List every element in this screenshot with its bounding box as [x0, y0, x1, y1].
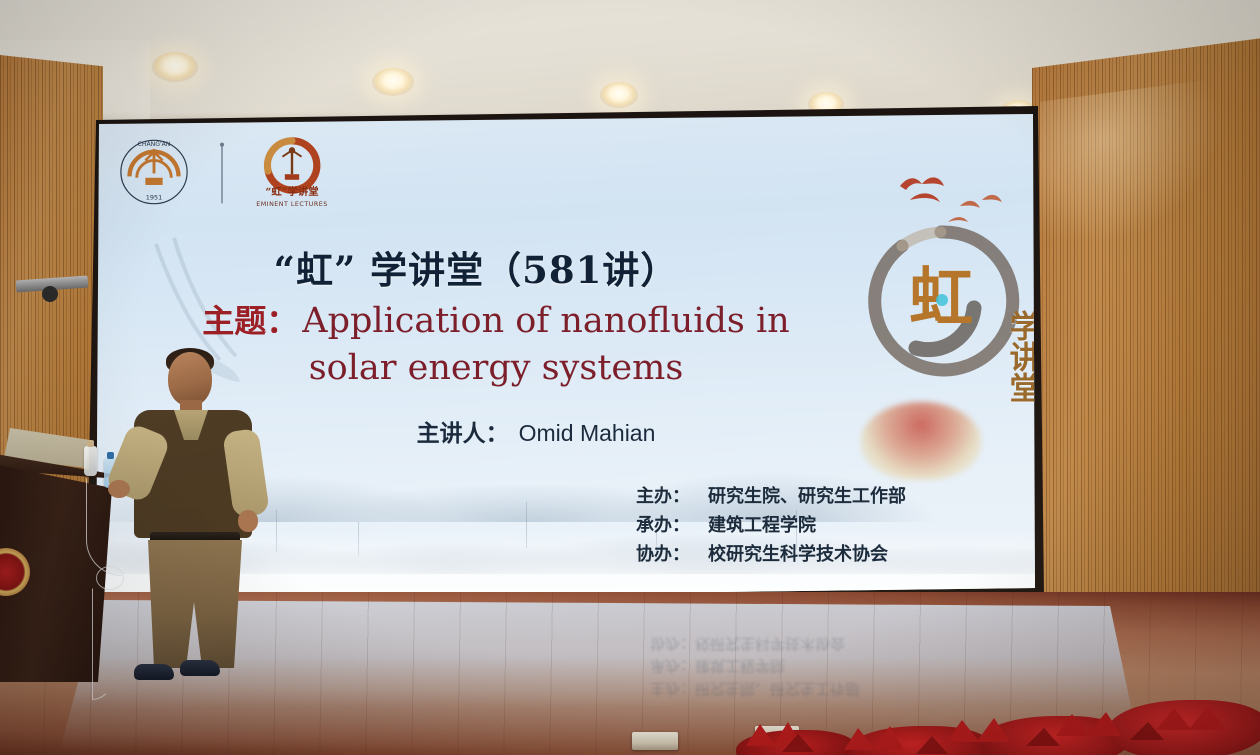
svg-text:EMINENT LECTURES: EMINENT LECTURES [256, 201, 327, 208]
presenter-left-hand [108, 480, 130, 498]
reflected-slide-text: 主办：研究生院、研究生工作部承办：建筑工程学院协办：校研究生科学技术协会 [650, 620, 970, 700]
ceiling-light-3 [600, 82, 638, 108]
presenter-shoe-right [180, 660, 220, 676]
lecture-hall-photo: CHANG'AN 1951 “虹”学讲堂 EMINENT LECTURES [0, 0, 1260, 755]
logo-divider [220, 138, 224, 210]
organizer-row: 主办： 研究生院、研究生工作部 [636, 482, 976, 511]
slide-title: “虹” 学讲堂（581讲） [96, 240, 856, 294]
presenter-shoe-left [134, 664, 174, 680]
poinsettia-leaves [726, 700, 1260, 755]
speaker-label: 主讲人： [417, 414, 509, 448]
eminent-lectures-logo: “虹”学讲堂 EMINENT LECTURES [252, 136, 332, 214]
svg-text:CHANG'AN: CHANG'AN [138, 141, 171, 148]
microphone-mount [42, 286, 58, 302]
organizer-value: 建筑工程学院 [708, 511, 816, 540]
floor-outlet-1 [632, 732, 678, 750]
speaker-name: Omid Mahian [519, 420, 656, 447]
presenter-right-hand [238, 510, 258, 532]
organizer-row: 承办： 建筑工程学院 [636, 511, 976, 540]
vertical-calligraphy: 学讲堂 [1001, 310, 1035, 403]
subject-label: 主题： [202, 296, 298, 342]
organizer-key: 承办： [636, 511, 698, 540]
changan-university-logo: CHANG'AN 1951 [118, 136, 190, 208]
organizer-key: 协办： [636, 540, 698, 569]
organizers-block: 主办： 研究生院、研究生工作部 承办： 建筑工程学院 协办： 校研究生科学技术协… [636, 482, 976, 569]
vertical-calligraphy-char-1: 学讲堂 [1001, 310, 1035, 403]
ceiling-light-1 [152, 52, 198, 82]
svg-text:“虹”学讲堂: “虹”学讲堂 [265, 185, 318, 198]
ceiling-light-2 [372, 68, 414, 96]
organizer-row: 协办： 校研究生科学技术协会 [636, 540, 976, 569]
subject-line-1: Application of nanofluids in [302, 301, 789, 341]
organizer-value: 研究生院、研究生工作部 [708, 482, 906, 511]
cable-trail [92, 588, 112, 700]
presenter-trousers [148, 540, 242, 668]
water-bottle [84, 446, 97, 476]
presenter-head [168, 352, 212, 406]
organizer-key: 主办： [636, 482, 698, 511]
organizer-value: 校研究生科学技术协会 [708, 540, 888, 569]
presenter [112, 352, 288, 700]
svg-text:1951: 1951 [146, 193, 162, 201]
